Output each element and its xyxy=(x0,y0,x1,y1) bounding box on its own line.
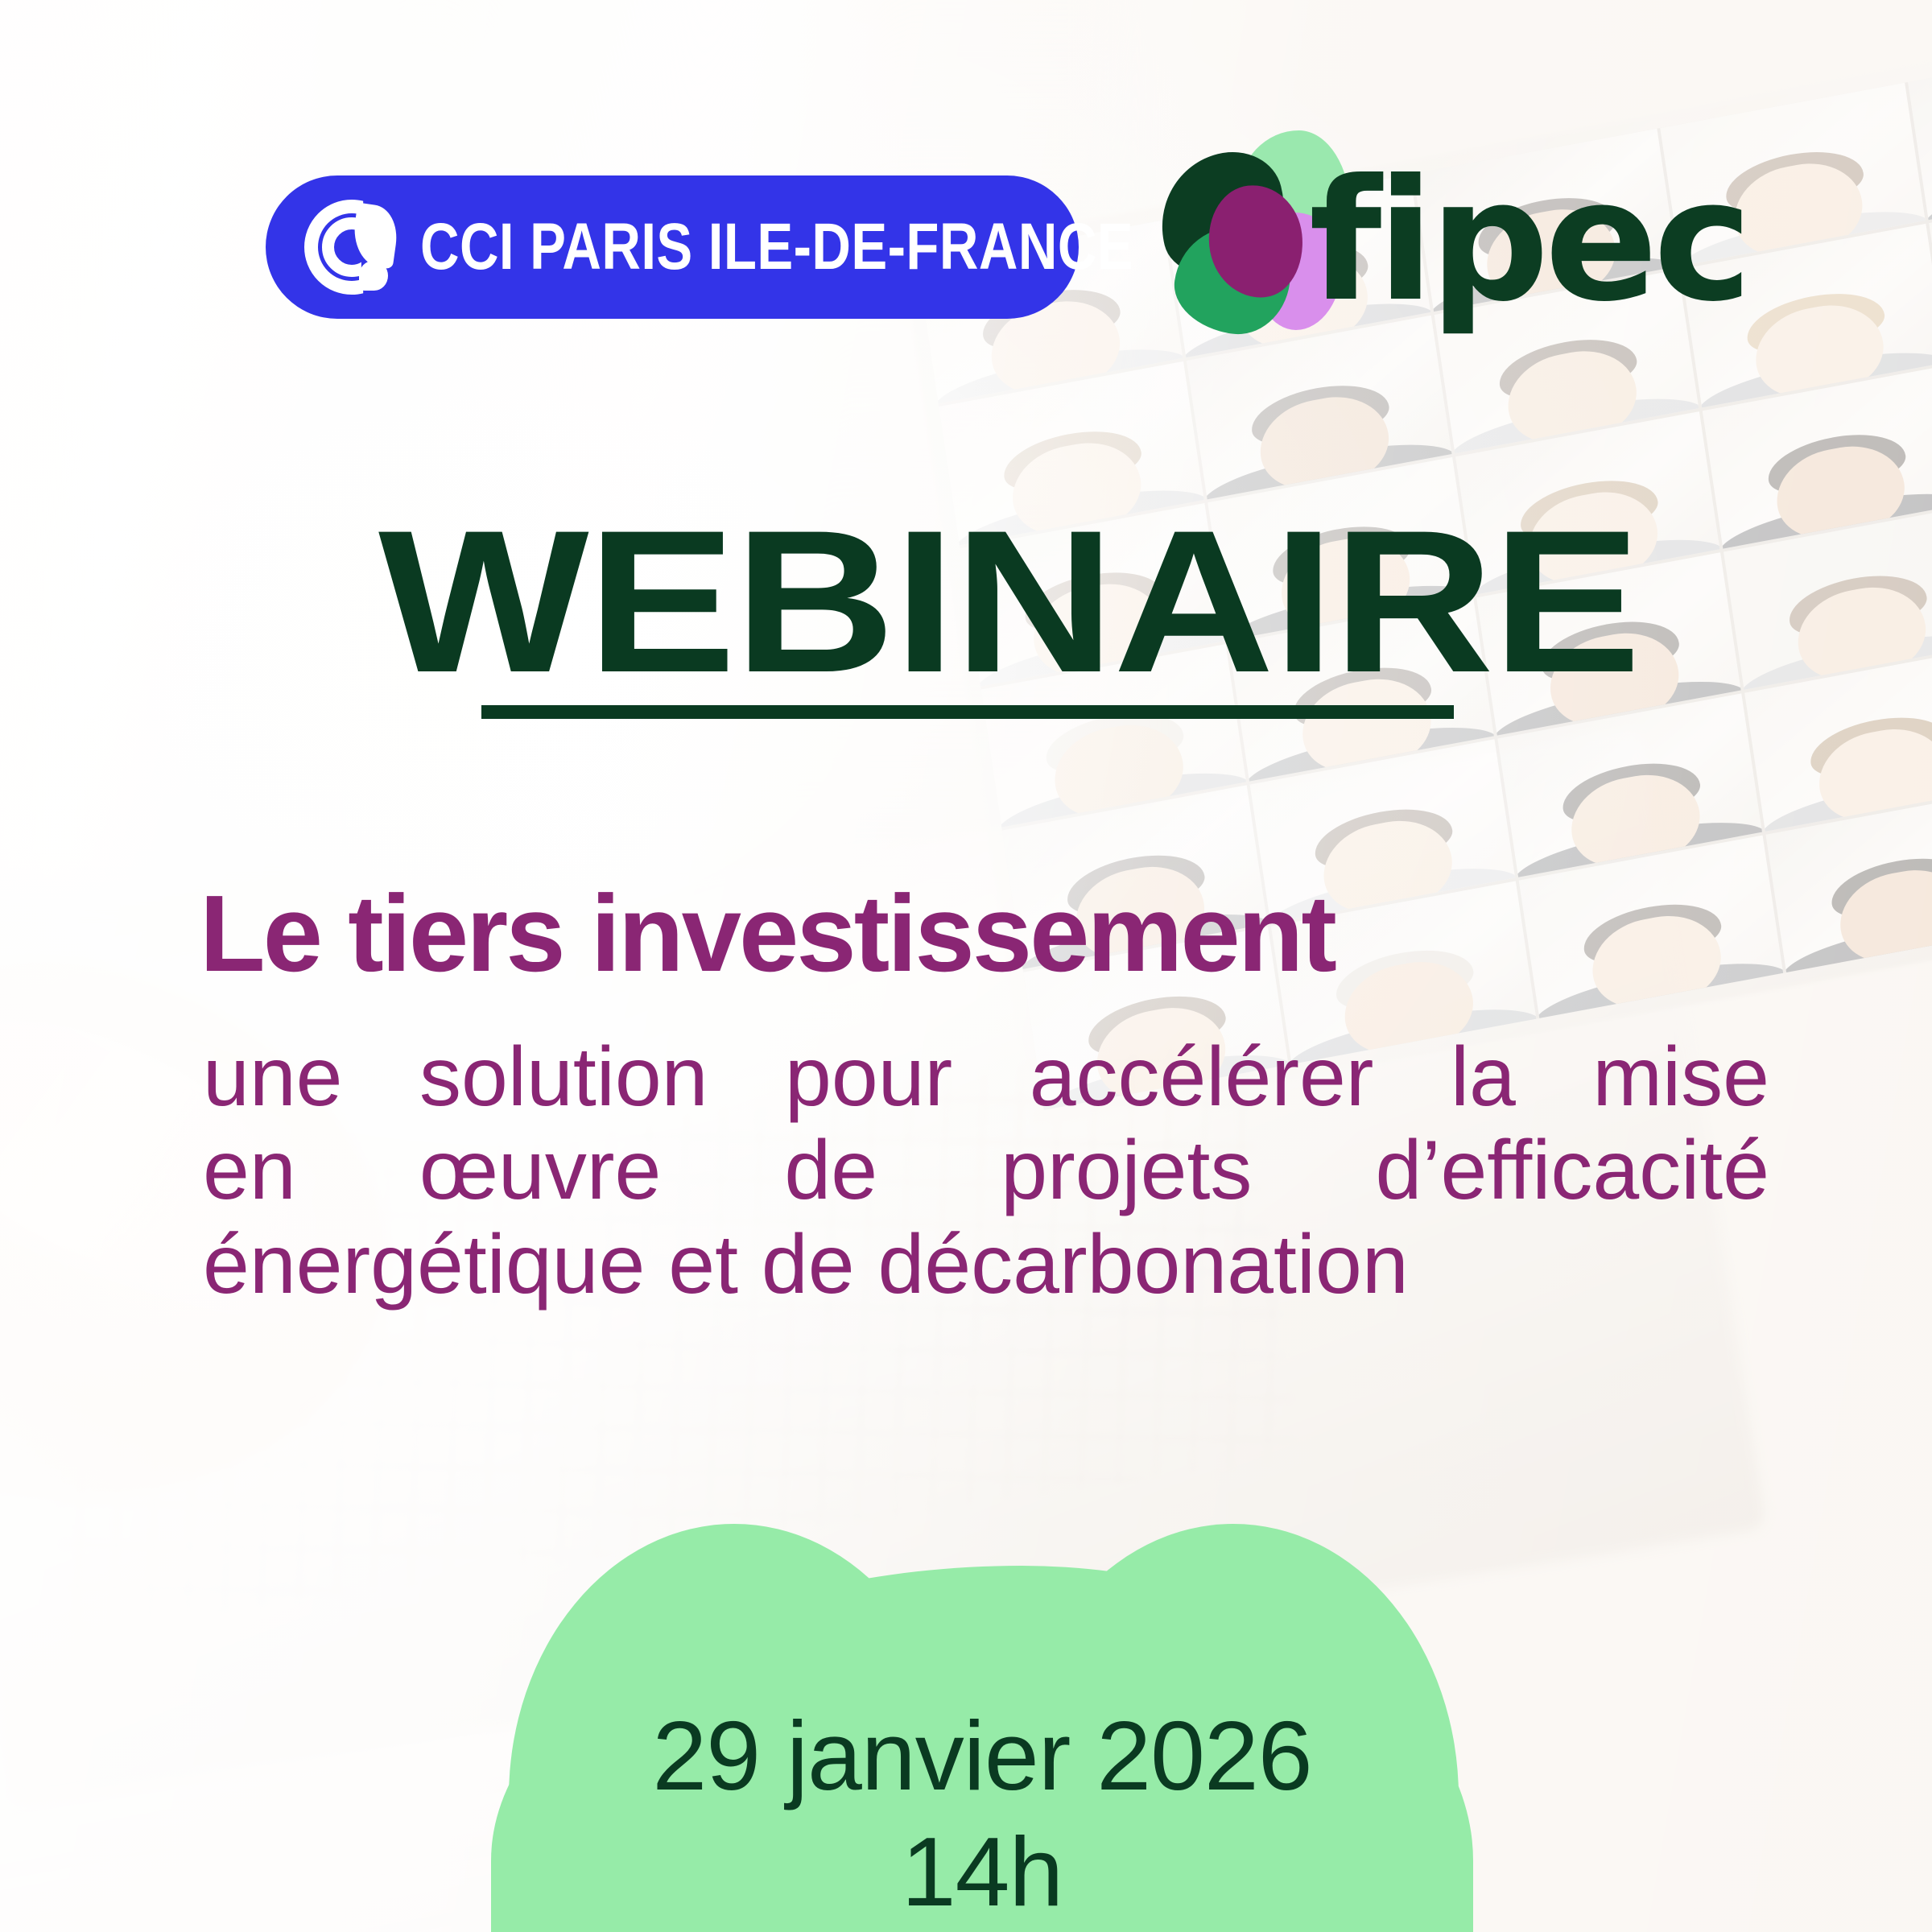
subtitle-word: en xyxy=(203,1124,296,1217)
subtitle-line-2: enœuvredeprojetsd’efficacité xyxy=(203,1124,1769,1217)
subtitle-word: une xyxy=(203,1030,343,1124)
event-time: 14h xyxy=(491,1814,1473,1930)
fipec-logo[interactable]: fipec xyxy=(1151,129,1682,330)
cci-paris-ile-de-france-logo[interactable]: CCI PARIS ILE-DE-FRANCE xyxy=(266,175,1079,319)
subtitle-word: de xyxy=(784,1124,877,1217)
title-divider xyxy=(481,705,1454,719)
subtitle: unesolutionpouraccélérerlamiseenœuvredep… xyxy=(203,1030,1769,1311)
page-title: WEBINAIRE xyxy=(378,501,1639,704)
webinar-poster: CCI PARIS ILE-DE-FRANCE fipec WEBINAIRE … xyxy=(0,0,1932,1932)
subtitle-word: accélérer xyxy=(1030,1030,1374,1124)
subtitle-space xyxy=(738,1218,762,1311)
subtitle-space xyxy=(855,1218,878,1311)
poster-content: CCI PARIS ILE-DE-FRANCE fipec WEBINAIRE … xyxy=(0,0,1932,1932)
subtitle-word: décarbonation xyxy=(878,1218,1409,1311)
cci-logo-text: CCI PARIS ILE-DE-FRANCE xyxy=(420,214,1133,280)
subtitle-word: solution xyxy=(419,1030,708,1124)
subtitle-word: la xyxy=(1451,1030,1516,1124)
subtitle-line-3: énergétique et de décarbonation xyxy=(203,1218,1769,1311)
subtitle-word: mise xyxy=(1592,1030,1769,1124)
fipec-logo-text: fipec xyxy=(1309,158,1748,325)
subtitle-space xyxy=(645,1218,668,1311)
subtitle-word: énergétique xyxy=(203,1218,645,1311)
event-date: 29 janvier 2026 xyxy=(652,1701,1311,1810)
subtitle-word: œuvre xyxy=(419,1124,661,1217)
cci-circle-mark-icon xyxy=(304,200,399,295)
subtitle-word: de xyxy=(762,1218,855,1311)
subtitle-word: pour xyxy=(785,1030,952,1124)
subtitle-word: d’efficacité xyxy=(1376,1124,1769,1217)
subtitle-word: et xyxy=(668,1218,738,1311)
subtitle-line-1: unesolutionpouraccélérerlamise xyxy=(203,1030,1769,1124)
event-datetime: 29 janvier 2026 14h xyxy=(491,1699,1473,1930)
headline: Le tiers investissement xyxy=(200,879,1754,988)
subtitle-word: projets xyxy=(1001,1124,1252,1217)
